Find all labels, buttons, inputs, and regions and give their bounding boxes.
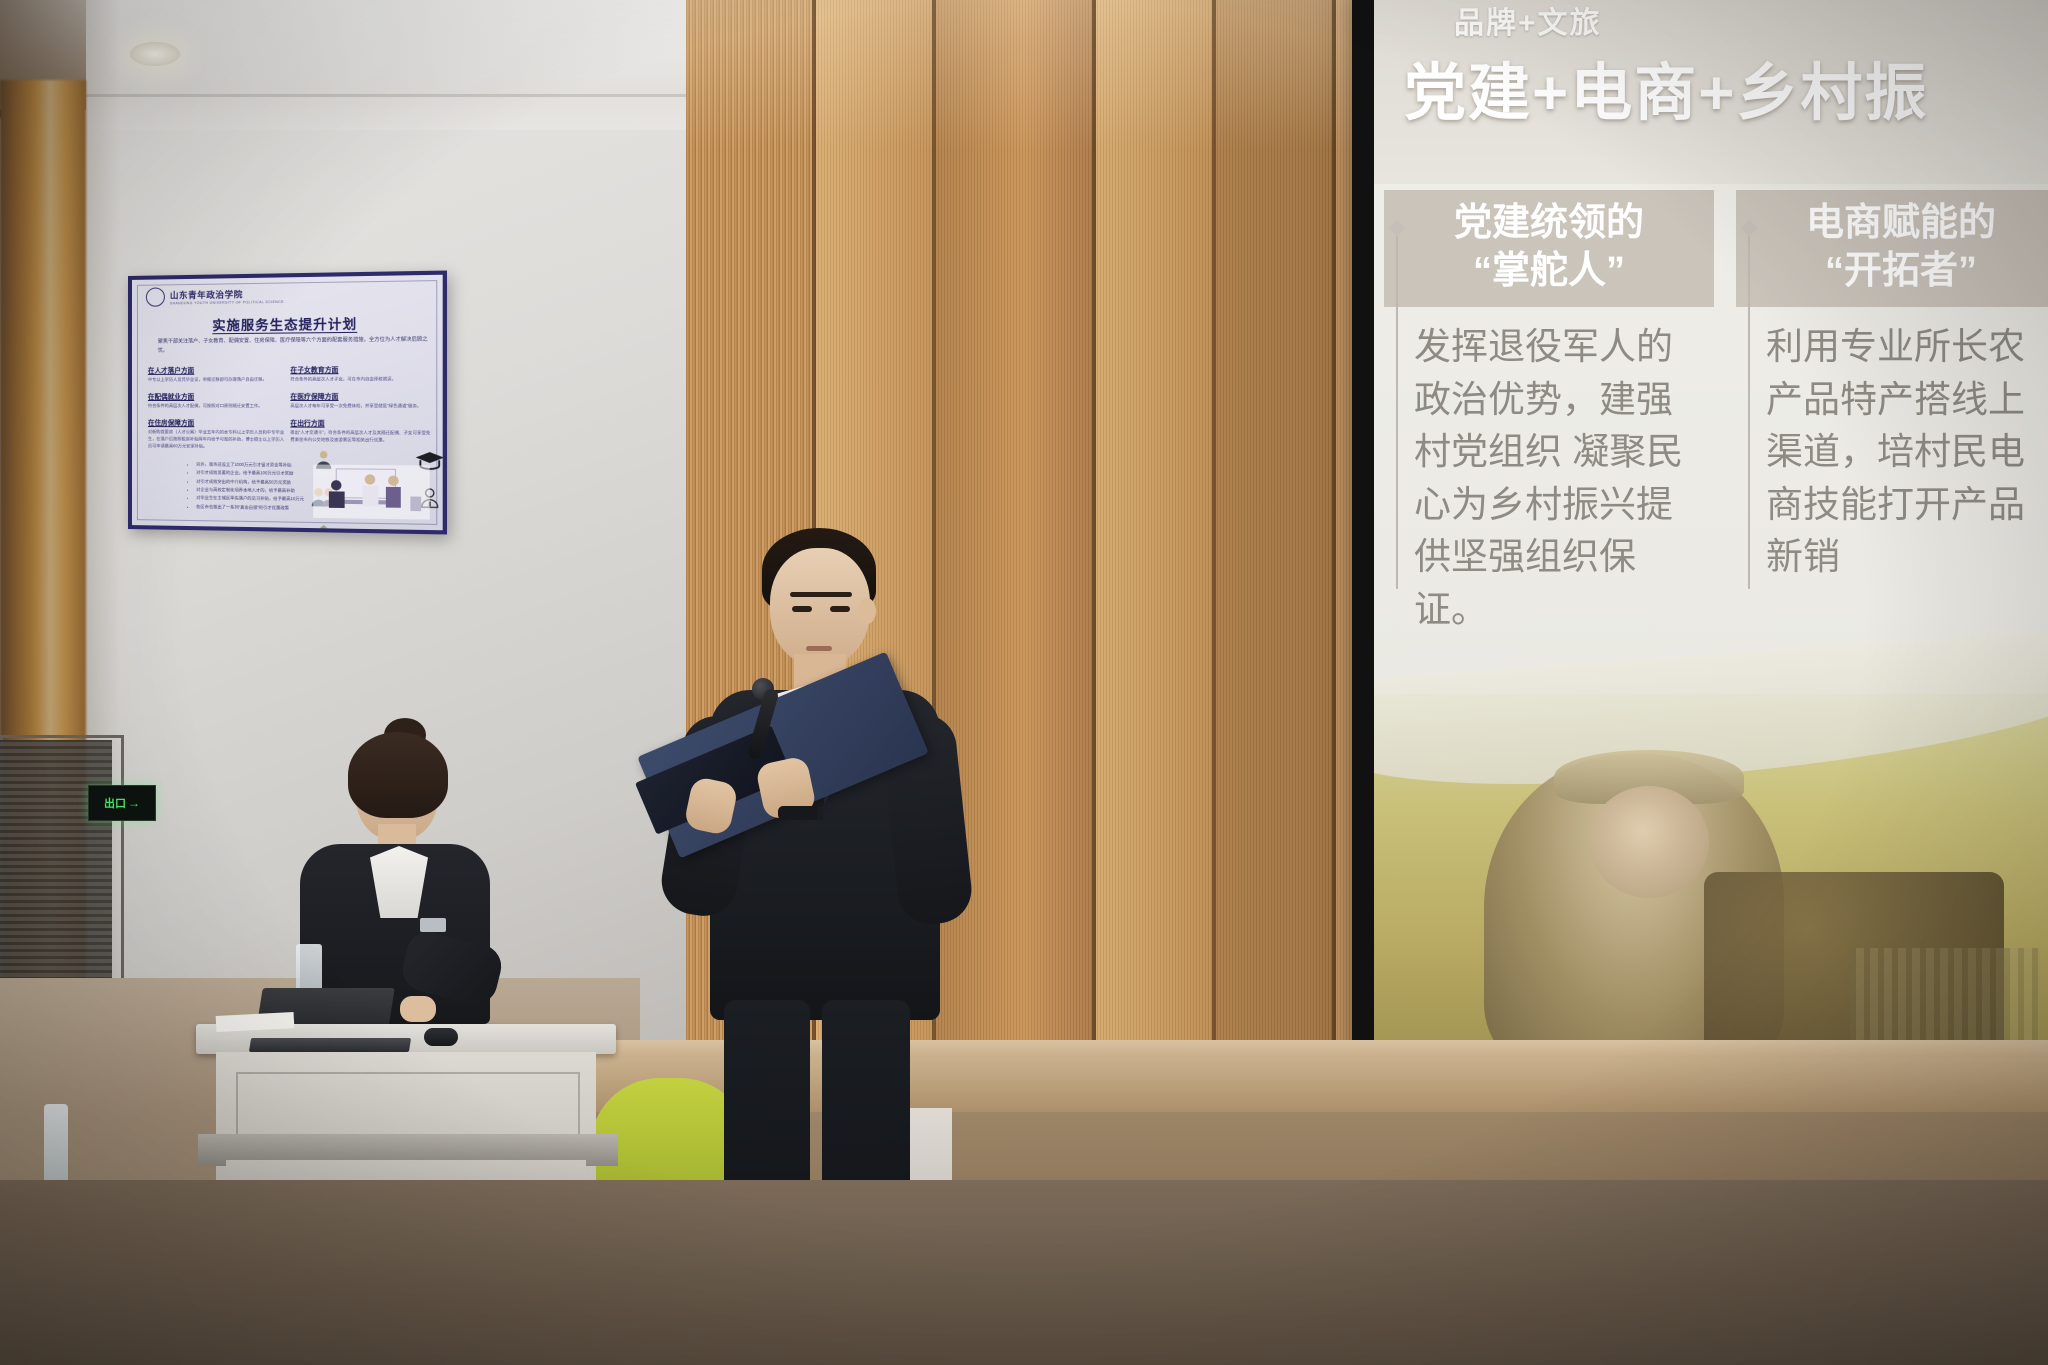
slide-card-body: 利用专业所长农产品特产搭线上渠道，培村民电商技能打开产品新销 <box>1736 307 2048 584</box>
poster-lead: 聚焦干部关注落户、子女教育、配偶安置、住房保障、医疗保障等六个方面的配套服务措施… <box>158 335 428 354</box>
slide-card-stem <box>1396 229 1398 589</box>
slide-card-heading-line2: “掌舵人” <box>1392 248 1706 296</box>
poster-illustration <box>313 465 430 520</box>
poster-section-body: 对新购首套房（人才公寓）毕业五年内的本专科以上学历人员和中专毕业生，在落户后按照… <box>148 429 284 451</box>
operator-hand <box>400 996 436 1022</box>
presenter-ear <box>858 598 876 624</box>
slide-card-heading: 电商赋能的 “开拓者” <box>1736 190 2048 307</box>
ceiling-downlight-icon <box>130 42 180 66</box>
poster-section-heading: 在人才落户方面 <box>148 364 284 375</box>
poster-section-heading: 在医疗保障方面 <box>290 390 432 400</box>
poster-section-heading: 在住房保障方面 <box>148 417 284 427</box>
presenter-eye <box>830 606 850 612</box>
slide-card: 电商赋能的 “开拓者” 利用专业所长农产品特产搭线上渠道，培村民电商技能打开产品… <box>1736 190 2048 636</box>
slide-title: 党建+电商+乡村振 <box>1404 42 1928 132</box>
poster-column-right: 在子女教育方面 符合条件的高层次人才子女，可在市内自由择校就读。 在医疗保障方面… <box>290 356 432 451</box>
poster-section-body: 符合条件的高层次人才子女，可在市内自由择校就读。 <box>290 376 432 384</box>
poster-logo: 山东青年政治学院 SHANDONG YOUTH UNIVERSITY OF PO… <box>146 286 284 307</box>
poster-title: 实施服务生态提升计划 <box>132 312 443 335</box>
slide-kicker: 品牌+文旅 <box>1454 0 1602 42</box>
poster-column-left: 在人才落户方面 中专以上学历人员凭毕业证，申报迁移即可办理落户自由迁移。 在配偶… <box>148 357 284 451</box>
poster-section-body: 中专以上学历人员凭毕业证，申报迁移即可办理落户自由迁移。 <box>148 376 284 383</box>
wall-poster: 山东青年政治学院 SHANDONG YOUTH UNIVERSITY OF PO… <box>128 270 447 534</box>
poster-section-body: 符合条件的高层次人才配偶，可按照对口原则随迁安置工作。 <box>148 403 284 410</box>
poster-school-name-en: SHANDONG YOUTH UNIVERSITY OF POLITICAL S… <box>170 299 284 305</box>
poster-section-heading: 在配偶就业方面 <box>148 391 284 401</box>
foreground-floor <box>0 1180 2048 1365</box>
poster-section-heading: 在出行方面 <box>290 417 432 428</box>
presentation-room-photo: 山东青年政治学院 SHANDONG YOUTH UNIVERSITY OF PO… <box>0 0 2048 1365</box>
exit-sign: 出口 → <box>88 785 156 821</box>
computer-mouse[interactable] <box>424 1028 458 1046</box>
slide-card-body-text: 发挥退役军人的政治优势，建强村党组织 凝聚民心为乡村振兴提供坚强组织保证。 <box>1414 326 1683 630</box>
projection-screen: 品牌+文旅 党建+电商+乡村振 党建统领的 “掌舵人” 发挥退役军人的政治优势，… <box>1374 0 2048 1074</box>
laptop-base[interactable] <box>249 1038 411 1052</box>
presenter-mouth <box>806 646 832 651</box>
exit-sign-label: 出口 <box>104 795 126 811</box>
slide-card-heading-line2: “开拓者” <box>1744 248 2048 296</box>
ceiling-edge-line <box>60 94 720 97</box>
slide-card-body: 发挥退役军人的政治优势，建强村党组织 凝聚民心为乡村振兴提供坚强组织保证。 <box>1384 307 1714 636</box>
presenter-eye <box>792 606 812 612</box>
floor-water-bottle[interactable] <box>44 1104 68 1188</box>
slide-cards: 党建统领的 “掌舵人” 发挥退役军人的政治优势，建强村党组织 凝聚民心为乡村振兴… <box>1384 190 2048 636</box>
operator-shirt <box>370 846 428 918</box>
operator-hair <box>348 732 448 818</box>
slide-photo-face <box>1589 786 1709 898</box>
operator-badge <box>420 918 446 932</box>
wall-vent-grille <box>0 740 112 980</box>
slide-card-heading-line1: 党建统领的 <box>1392 200 1706 248</box>
wood-highlight <box>686 0 1416 150</box>
slide-card: 党建统领的 “掌舵人” 发挥退役军人的政治优势，建强村党组织 凝聚民心为乡村振兴… <box>1384 190 1714 636</box>
school-seal-icon <box>146 287 165 306</box>
slide-card-stem <box>1748 229 1750 589</box>
poster-section-body: 高层次人才每年可享受一次免费体检，并享受就医“绿色通道”服务。 <box>290 403 432 410</box>
exit-arrow-icon: → <box>128 796 140 810</box>
poster-columns: 在人才落户方面 中专以上学历人员凭毕业证，申报迁移即可办理落户自由迁移。 在配偶… <box>148 356 432 451</box>
presenter-brow <box>790 592 852 597</box>
slide-card-body-text: 利用专业所长农产品特产搭线上渠道，培村民电商技能打开产品新销 <box>1766 326 2025 577</box>
slide-photo <box>1374 694 2048 1074</box>
slide-card-heading-line1: 电商赋能的 <box>1744 200 2048 248</box>
slide-card-heading: 党建统领的 “掌舵人” <box>1384 190 1714 307</box>
presenter-wristwatch <box>778 806 818 820</box>
poster-section-heading: 在子女教育方面 <box>290 363 432 374</box>
